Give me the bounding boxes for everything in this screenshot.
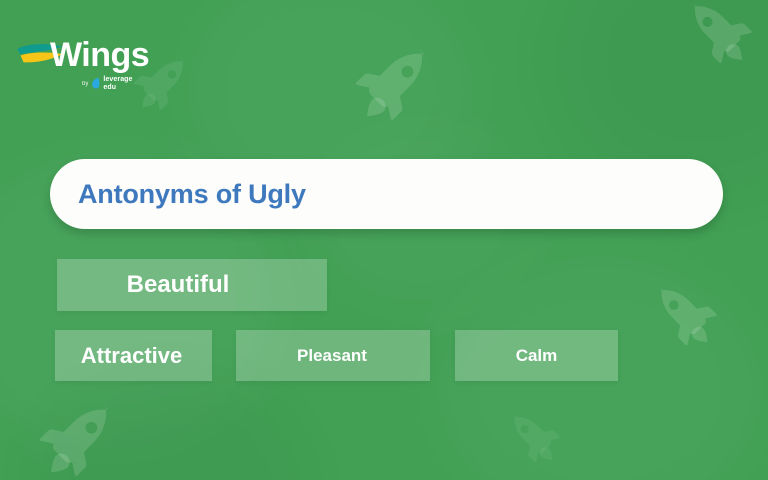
title-card: Antonyms of Ugly	[50, 159, 723, 229]
logo-by-label: by	[82, 81, 88, 87]
wings-logo[interactable]: Wings by leverage edu	[16, 38, 176, 100]
page-title: Antonyms of Ugly	[78, 179, 306, 210]
answer-label: Pleasant	[236, 346, 430, 366]
answer-label: Attractive	[55, 343, 212, 369]
answer-pill-calm[interactable]: Calm	[455, 330, 618, 381]
logo-parent-line1: leverage	[103, 76, 132, 84]
rocket-icon	[505, 410, 563, 468]
answer-pill-attractive[interactable]: Attractive	[55, 330, 212, 381]
logo-parent-line2: edu	[103, 84, 132, 92]
answer-pill-beautiful[interactable]: Beautiful	[57, 259, 327, 311]
background-texture-blob	[40, 380, 300, 480]
logo-wordmark: Wings	[50, 35, 149, 75]
logo-primary-row: Wings	[16, 38, 176, 78]
slide-canvas: Wings by leverage edu Antonyms of Ugly B…	[0, 0, 768, 480]
leaf-icon	[91, 77, 100, 90]
answer-label: Calm	[455, 346, 618, 366]
logo-subtitle: by leverage edu	[82, 76, 133, 91]
rocket-icon	[650, 282, 720, 352]
answer-label: Beautiful	[57, 271, 327, 299]
logo-parent-brand: leverage edu	[103, 76, 132, 91]
rocket-icon	[352, 44, 436, 128]
answer-pill-pleasant[interactable]: Pleasant	[236, 330, 430, 381]
rocket-icon	[36, 400, 120, 480]
rocket-icon	[683, 0, 755, 70]
